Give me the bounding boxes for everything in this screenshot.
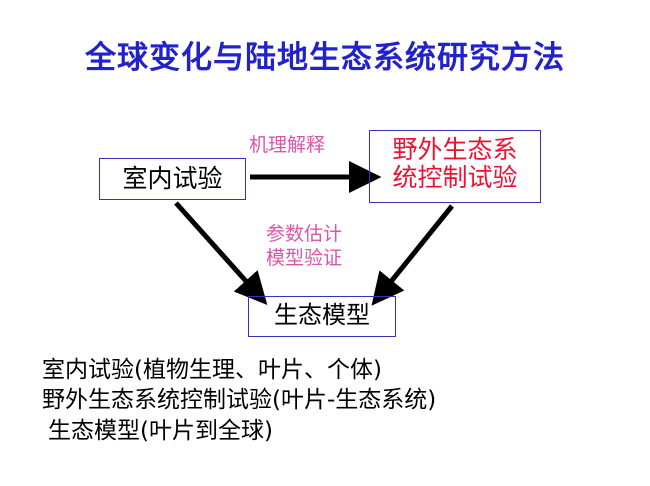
- box-field-control-experiment[interactable]: 野外生态系 统控制试验: [369, 130, 541, 203]
- box-field-control-experiment-label-line1: 野外生态系: [370, 136, 540, 164]
- legend-line-field: 野外生态系统控制试验(叶片-生态系统): [42, 385, 642, 415]
- page-title: 全球变化与陆地生态系统研究方法: [0, 32, 650, 77]
- box-indoor-experiment[interactable]: 室内试验: [99, 158, 246, 200]
- annotation-parameter-line2: 模型验证: [266, 246, 342, 270]
- box-ecological-model-label: 生态模型: [274, 301, 370, 329]
- arrow-field-to-model: [385, 206, 452, 289]
- annotation-parameter-line1: 参数估计: [266, 222, 342, 246]
- annotation-mechanism: 机理解释: [249, 130, 325, 157]
- slide: 全球变化与陆地生态系统研究方法 室内试验 野外生态系 统控制试验 生态模型 机理…: [0, 0, 650, 486]
- annotation-parameter: 参数估计 模型验证: [266, 222, 342, 271]
- box-field-control-experiment-label-line2: 统控制试验: [370, 164, 540, 192]
- legend: 室内试验(植物生理、叶片、个体) 野外生态系统控制试验(叶片-生态系统) 生态模…: [42, 355, 642, 446]
- box-ecological-model[interactable]: 生态模型: [248, 296, 396, 337]
- legend-line-model: 生态模型(叶片到全球): [42, 416, 642, 446]
- box-indoor-experiment-label: 室内试验: [122, 164, 222, 193]
- legend-line-indoor: 室内试验(植物生理、叶片、个体): [42, 355, 642, 385]
- arrow-indoor-to-model: [176, 203, 253, 289]
